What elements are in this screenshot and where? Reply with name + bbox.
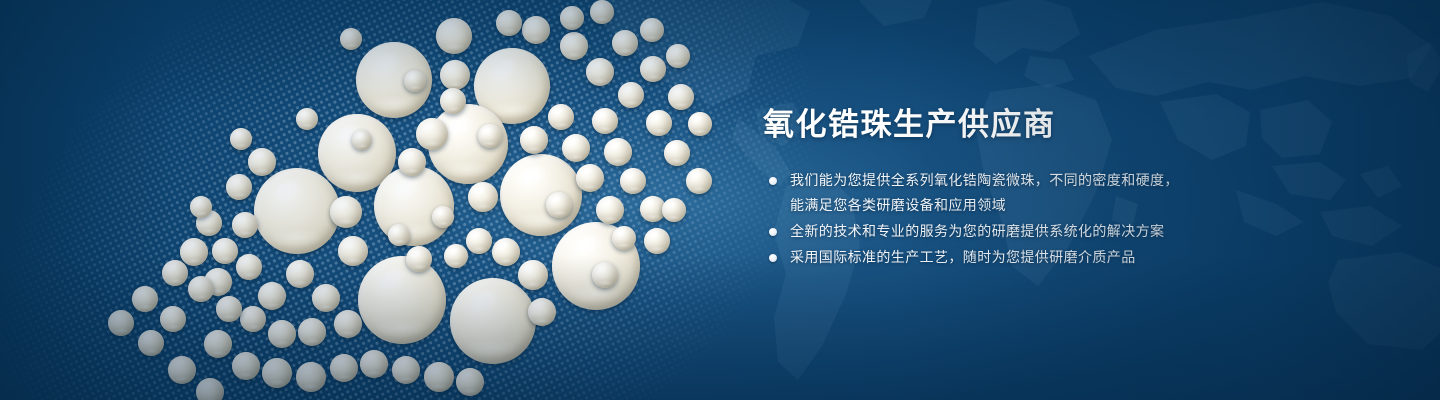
hero-banner: 氧化锆珠生产供应商 我们能为您提供全系列氧化锆陶瓷微珠，不同的密度和硬度， 能满… (0, 0, 1440, 400)
background-vignette (0, 0, 1440, 400)
